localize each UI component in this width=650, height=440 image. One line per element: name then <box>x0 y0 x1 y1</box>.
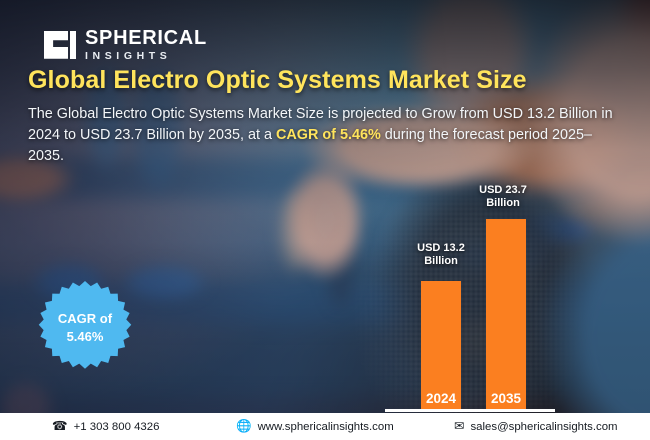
footer-phone-text: +1 303 800 4326 <box>74 421 160 433</box>
footer-website-text: www.sphericalinsights.com <box>258 421 394 433</box>
contact-footer: ☎ +1 303 800 4326 🌐 www.sphericalinsight… <box>0 413 650 440</box>
cagr-badge-line2: 5.46% <box>67 328 104 346</box>
brand-logo[interactable]: SPHERICAL INSIGHTS <box>44 28 207 62</box>
cagr-highlight: CAGR of 5.46% <box>276 127 381 143</box>
footer-website[interactable]: 🌐 www.sphericalinsights.com <box>236 420 394 433</box>
infographic-canvas: SPHERICAL INSIGHTS Global Electro Optic … <box>0 0 650 440</box>
logo-primary-text: SPHERICAL <box>85 28 207 48</box>
page-title: Global Electro Optic Systems Market Size <box>28 66 628 95</box>
cagr-badge-line1: CAGR of <box>58 310 112 328</box>
footer-phone[interactable]: ☎ +1 303 800 4326 <box>52 420 159 433</box>
footer-email[interactable]: ✉ sales@sphericalinsights.com <box>454 420 618 433</box>
globe-icon: 🌐 <box>236 420 252 433</box>
summary-paragraph: The Global Electro Optic Systems Market … <box>28 104 616 167</box>
spherical-insights-logo-icon <box>44 29 76 61</box>
envelope-icon: ✉ <box>454 420 464 433</box>
logo-secondary-text: INSIGHTS <box>85 51 207 62</box>
footer-email-text: sales@sphericalinsights.com <box>470 421 617 433</box>
phone-icon: ☎ <box>52 420 68 433</box>
